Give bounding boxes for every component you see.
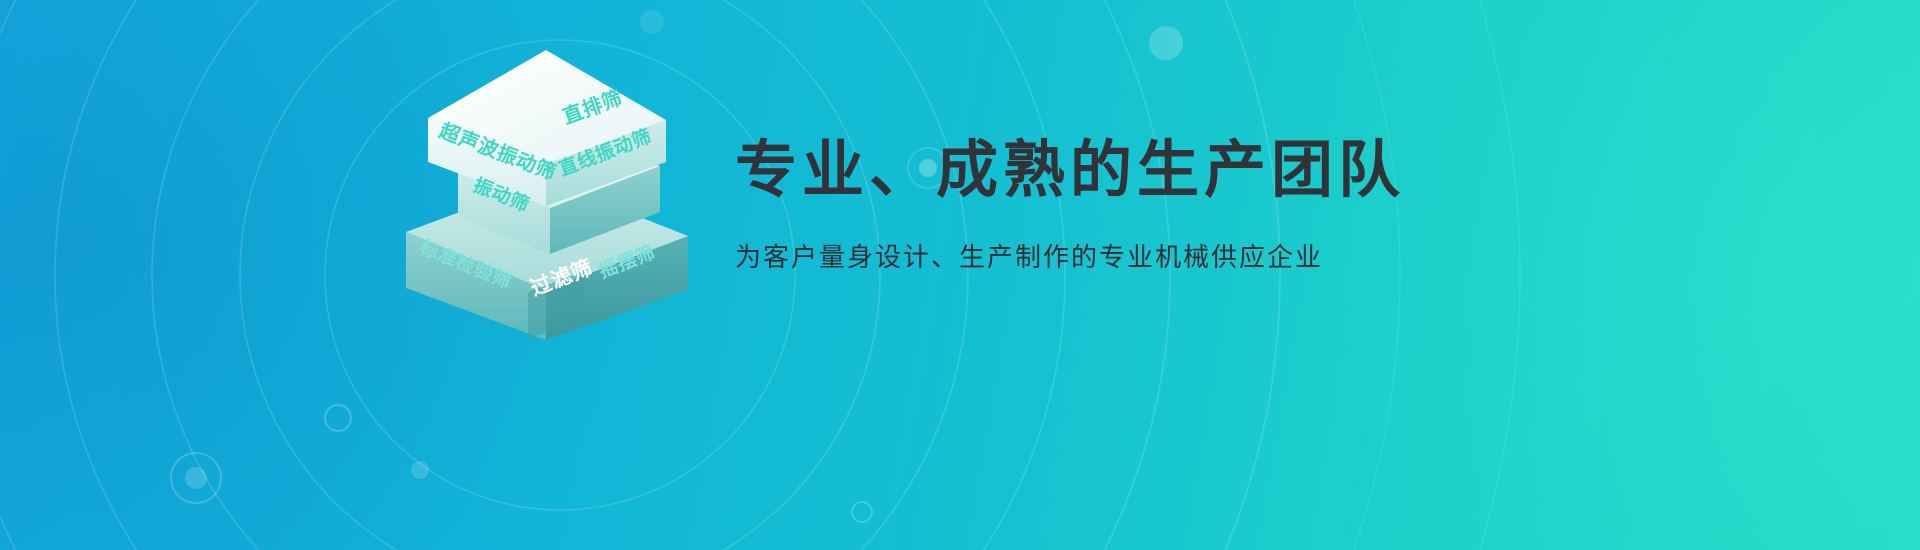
cube-svg: 超声波振动筛 直排筛 振动筛 直线振动筛 标准检验筛 过滤筛 摇摆筛 xyxy=(398,40,718,340)
stacked-sieve-cubes-illustration: 超声波振动筛 直排筛 振动筛 直线振动筛 标准检验筛 过滤筛 摇摆筛 xyxy=(398,40,718,340)
banner-text-block: 专业、成熟的生产团队 为客户量身设计、生产制作的专业机械供应企业 xyxy=(735,135,1635,275)
hero-banner: 超声波振动筛 直排筛 振动筛 直线振动筛 标准检验筛 过滤筛 摇摆筛 专业、成熟… xyxy=(0,0,1920,550)
banner-subheadline: 为客户量身设计、生产制作的专业机械供应企业 xyxy=(735,241,1635,275)
banner-headline: 专业、成熟的生产团队 xyxy=(735,135,1635,206)
